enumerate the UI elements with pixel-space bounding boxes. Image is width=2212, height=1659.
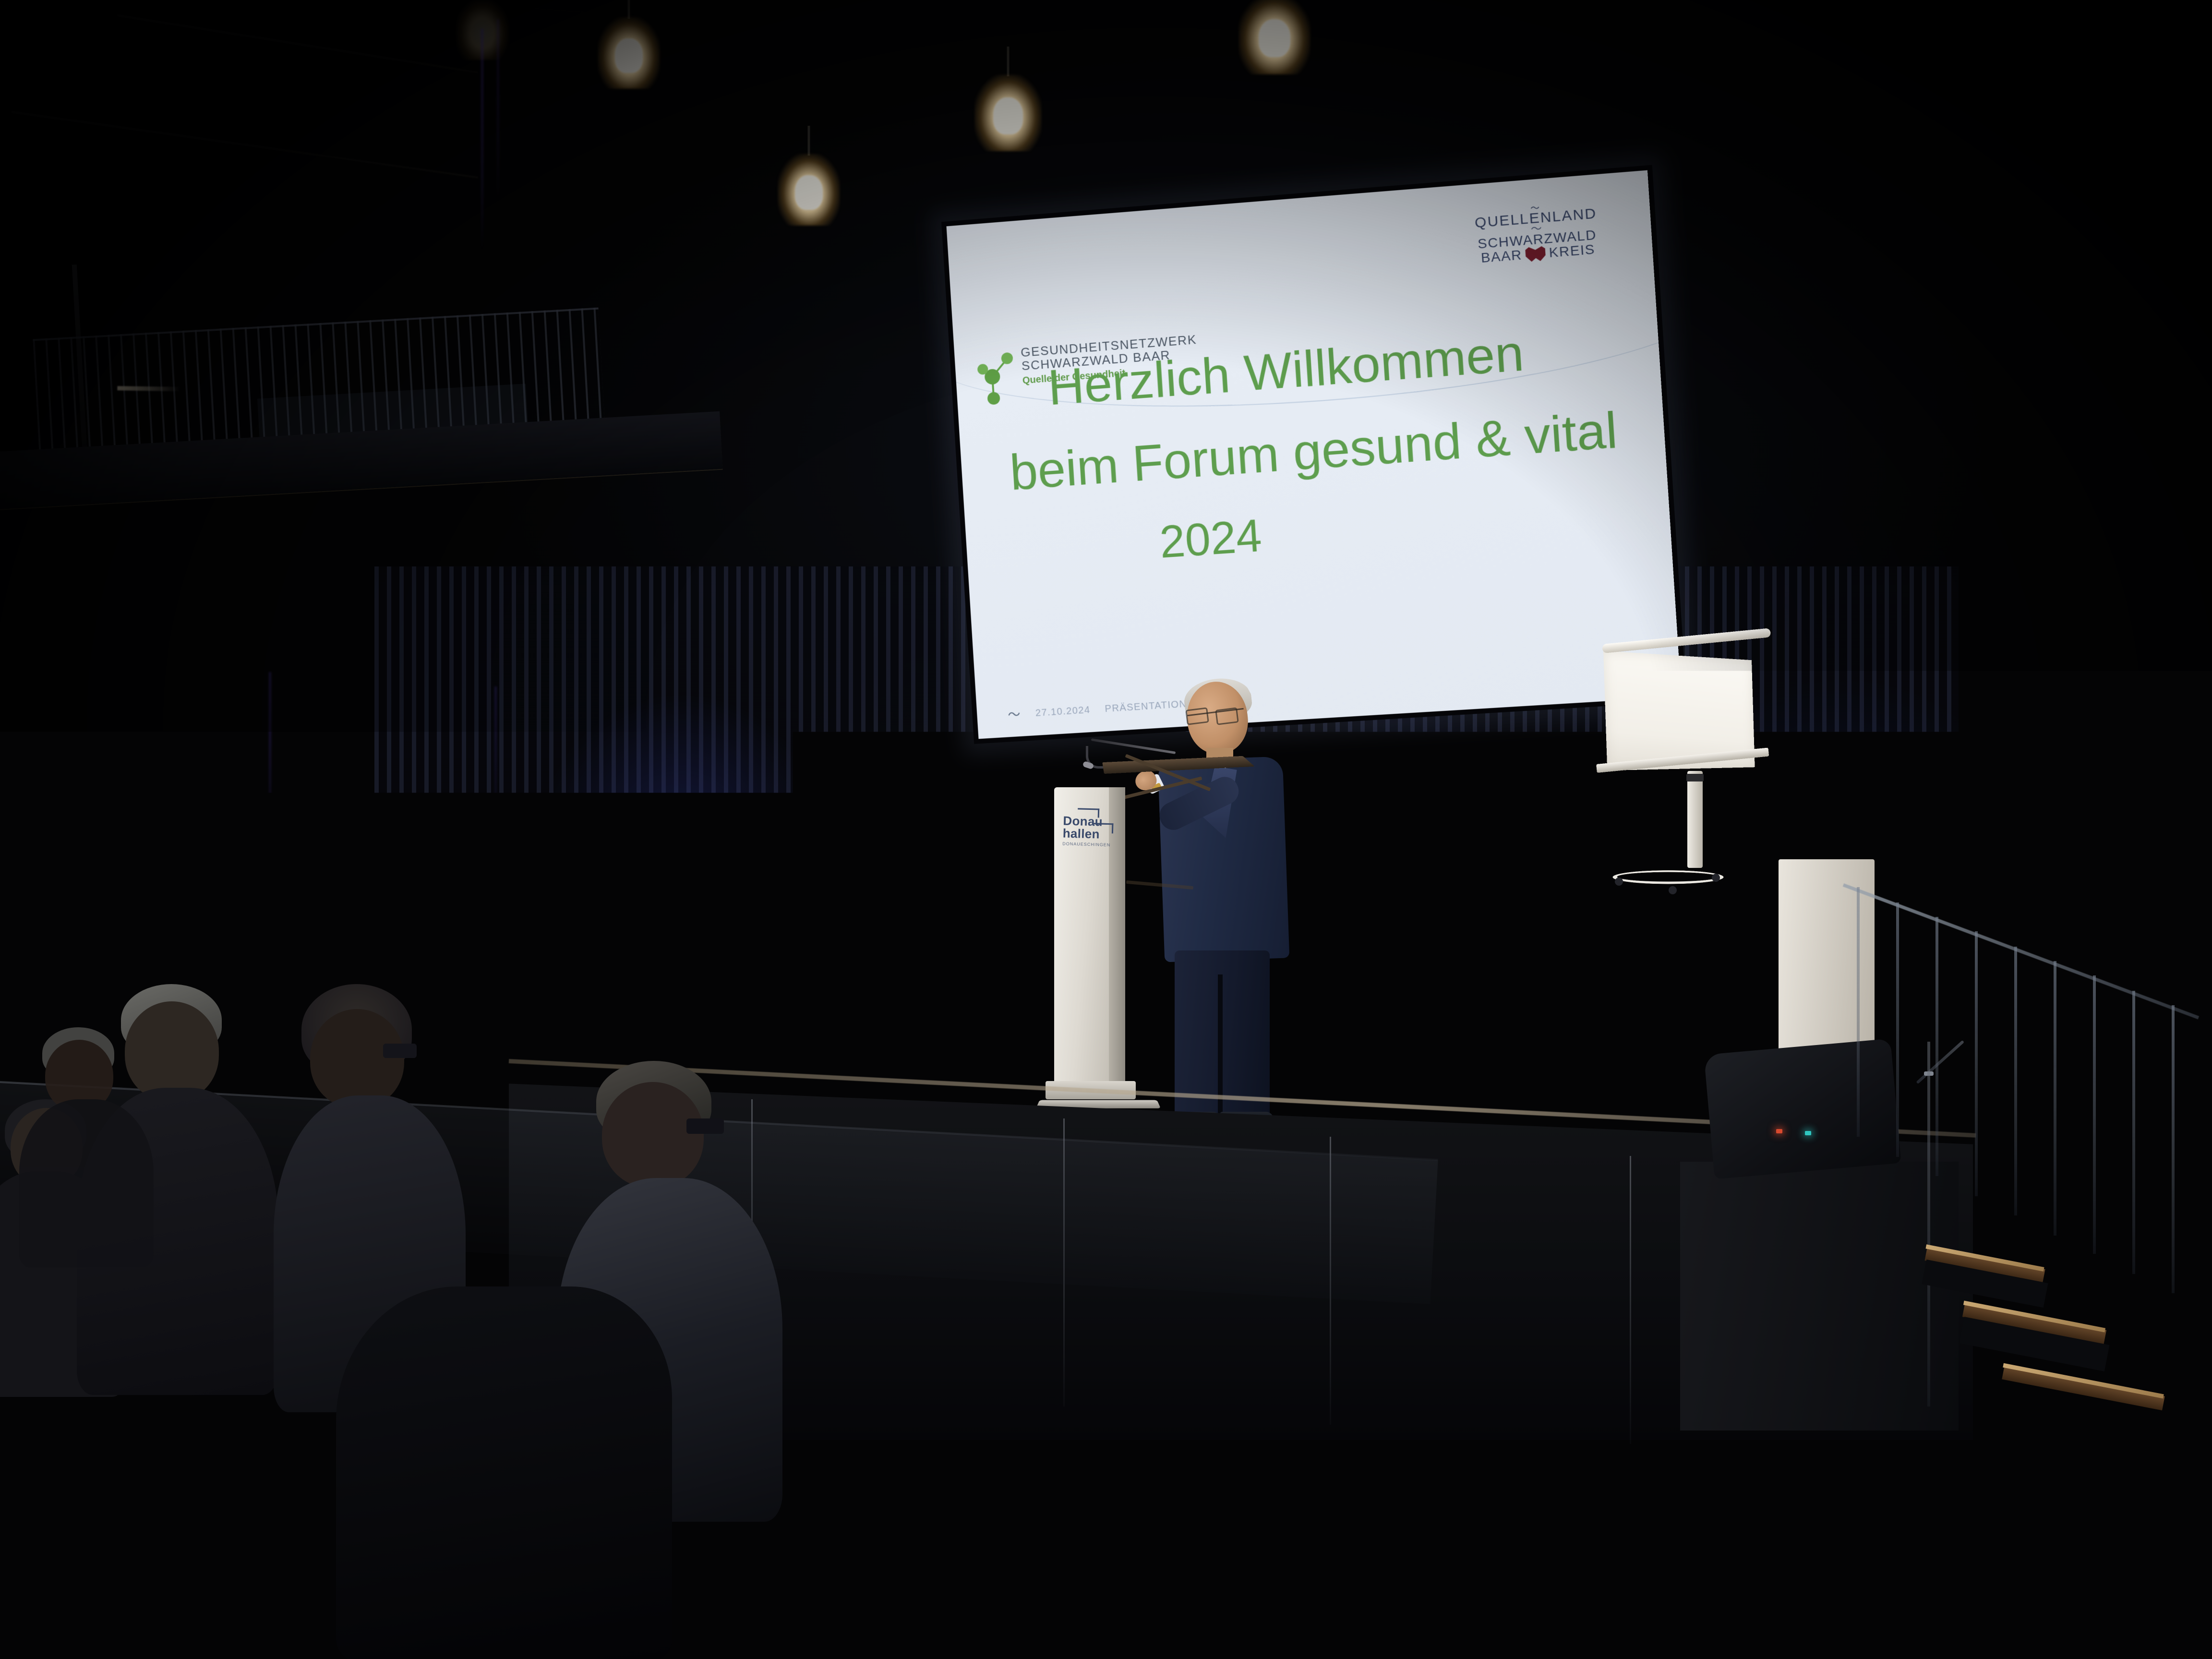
railing-post — [2014, 947, 2017, 1215]
spotlight-core — [795, 175, 822, 210]
ceiling-spotlight — [1238, 0, 1310, 74]
donauhallen-logo: Donau hallen DONAUESCHINGEN — [1062, 815, 1117, 848]
ceiling-spotlight — [974, 74, 1042, 151]
railing-post — [2054, 961, 2056, 1236]
audience-head — [602, 1082, 704, 1188]
quellenland-logo: 〜 QUELLENLAND 〜 SCHWARZWALD BAAR KREIS — [1460, 200, 1613, 267]
flipchart-height-collar — [1686, 774, 1704, 781]
slide-headline: Herzlich Willkommen beim Forum gesund & … — [989, 320, 1640, 576]
spotlight-stem — [808, 126, 810, 156]
stage-stairs[interactable] — [1839, 826, 2212, 1469]
ceiling-spotlight — [778, 154, 840, 226]
foreground-shadow — [0, 1229, 1104, 1659]
quellenland-baar: BAAR — [1480, 248, 1523, 265]
audience-glasses — [383, 1044, 417, 1058]
blue-light-streak — [494, 686, 497, 845]
spotlight-stem — [628, 0, 630, 19]
audience-head — [310, 1009, 404, 1108]
projection-screen: GESUNDHEITSNETZWERK SCHWARZWALD BAAR Que… — [946, 170, 1681, 739]
blue-light-streak — [497, 19, 499, 202]
auditorium-scene: GESUNDHEITSNETZWERK SCHWARZWALD BAAR Que… — [0, 0, 2212, 1659]
spotlight-core — [993, 97, 1023, 134]
logo-bracket-icon — [1093, 823, 1114, 833]
monitor-power-led — [1776, 1129, 1782, 1133]
railing-post — [2132, 991, 2135, 1274]
lectern: Donau hallen DONAUESCHINGEN — [1037, 787, 1181, 1138]
balcony — [0, 228, 739, 633]
railing-post — [1975, 931, 1978, 1196]
exit-sign-icon — [675, 838, 696, 854]
railing-post — [2093, 975, 2096, 1254]
balcony-light-reflection — [117, 386, 180, 391]
flipchart-caster — [1712, 874, 1720, 882]
headline-line-2: beim Forum gesund & vital — [1009, 403, 1635, 498]
red-indicator-light — [591, 960, 597, 973]
flipchart-base — [1608, 870, 1729, 884]
ceiling-spotlight — [598, 17, 660, 89]
logo-bracket-icon — [1078, 808, 1099, 817]
railing-post — [1857, 887, 1860, 1137]
spotlight-core — [1259, 19, 1290, 57]
railing-post — [2172, 1005, 2175, 1293]
spotlight-core — [615, 38, 642, 73]
presentation-slide: GESUNDHEITSNETZWERK SCHWARZWALD BAAR Que… — [946, 170, 1681, 739]
blue-light-streak — [269, 672, 271, 864]
flipchart-caster — [1615, 878, 1623, 886]
blue-light-streak — [481, 29, 483, 250]
presenter-glasses-lens — [1185, 707, 1209, 725]
flipchart-caster — [1669, 886, 1677, 894]
flipchart-post — [1687, 771, 1703, 868]
spotlight-stem — [1007, 47, 1010, 76]
railing-post — [1896, 902, 1899, 1157]
apron-panel-seam — [1630, 1156, 1631, 1444]
railing-post — [1935, 917, 1938, 1176]
audience-glasses — [686, 1118, 724, 1134]
monitor-signal-led — [1805, 1131, 1811, 1135]
coat-of-arms-icon — [1525, 246, 1546, 262]
footer-tilde-icon: 〜 — [1008, 711, 1021, 719]
